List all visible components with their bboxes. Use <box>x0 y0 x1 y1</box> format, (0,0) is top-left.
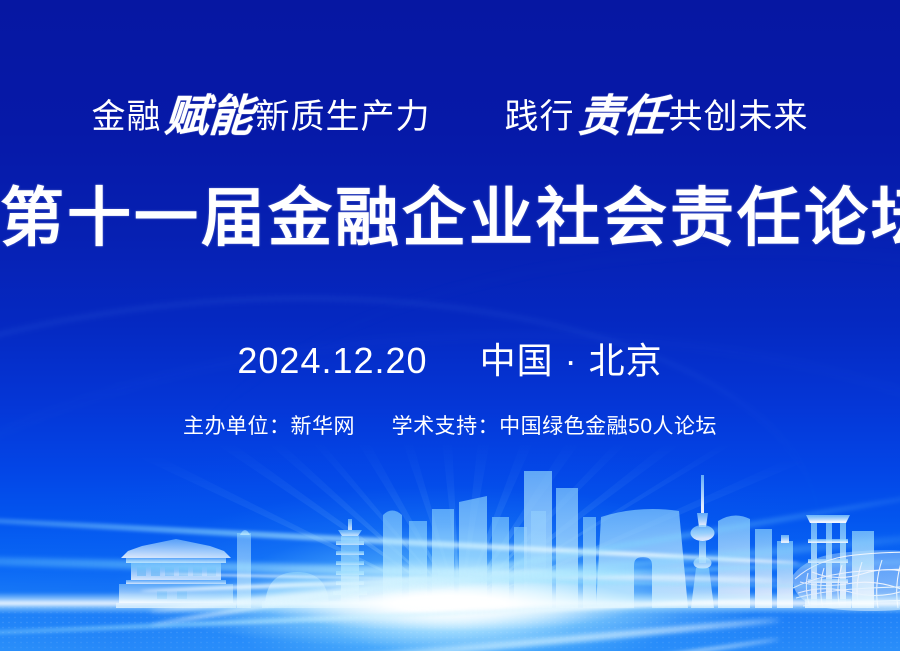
slogan-left-prefix: 金融 <box>92 100 162 134</box>
slogan-right-prefix: 践行 <box>505 100 575 134</box>
slogan-right: 践行 责任 共创未来 <box>505 92 809 136</box>
host-organizer: 主办单位：新华网 <box>183 415 355 438</box>
organizer-row: 主办单位：新华网 学术支持：中国绿色金融50人论坛 <box>0 410 900 440</box>
academic-support: 学术支持：中国绿色金融50人论坛 <box>392 415 717 438</box>
slogan-left-suffix: 新质生产力 <box>256 100 431 134</box>
slogan-right-suffix: 共创未来 <box>669 100 809 134</box>
event-date: 2024.12.20 <box>237 340 427 381</box>
forum-poster: 金融 赋能 新质生产力 践行 责任 共创未来 第十一届金融企业社会责任论坛 20… <box>0 0 900 651</box>
event-location: 中国 · 北京 <box>480 340 663 381</box>
page-title: 第十一届金融企业社会责任论坛 <box>0 186 900 250</box>
slogan-left: 金融 赋能 新质生产力 <box>92 92 431 136</box>
slogan-right-brush: 责任 <box>576 95 667 139</box>
slogan-row: 金融 赋能 新质生产力 践行 责任 共创未来 <box>0 92 900 136</box>
slogan-left-brush: 赋能 <box>163 95 254 139</box>
event-date-location: 2024.12.20 中国 · 北京 <box>0 332 900 384</box>
